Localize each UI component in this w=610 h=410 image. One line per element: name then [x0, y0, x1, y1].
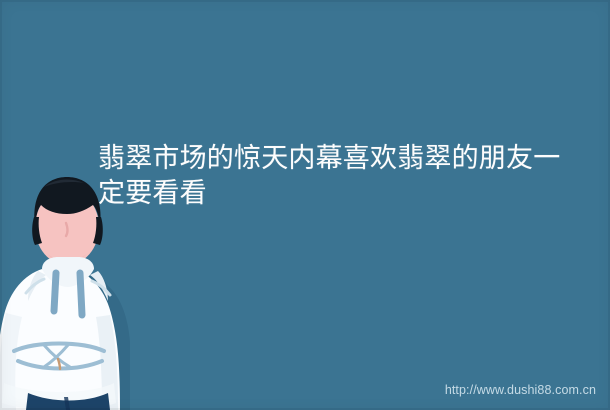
- page-title: 翡翠市场的惊天内幕喜欢翡翠的朋友一定要看看: [98, 141, 568, 211]
- drawstring-right: [80, 273, 82, 315]
- hoodie: [0, 257, 120, 410]
- article-cover-image: 翡翠市场的惊天内幕喜欢翡翠的朋友一定要看看 http://www.dushi88…: [0, 0, 610, 410]
- drawstring-left: [54, 273, 56, 311]
- watermark-url: http://www.dushi88.com.cn: [445, 383, 596, 397]
